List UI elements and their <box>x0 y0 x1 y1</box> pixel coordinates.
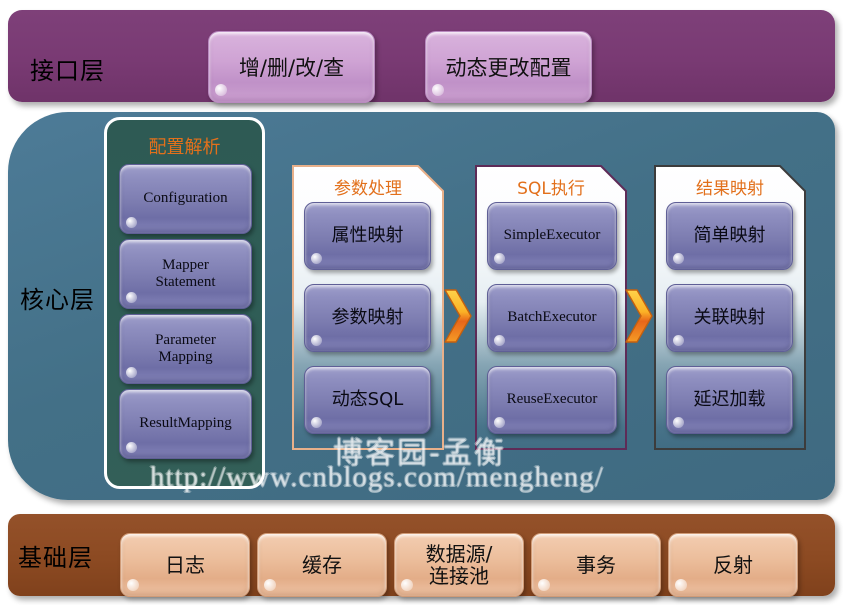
core-box-simple-executor[interactable]: SimpleExecutor <box>487 202 617 270</box>
core-box-batch-executor-label: BatchExecutor <box>503 309 600 326</box>
core-box-reuse-executor[interactable]: ReuseExecutor <box>487 366 617 434</box>
base-box-reflection-label: 反射 <box>713 554 753 576</box>
base-box-transaction-label: 事务 <box>576 554 616 576</box>
core-box-parameter-mapping-2-label: 参数映射 <box>328 308 408 329</box>
interface-box-dynamic-config-label: 动态更改配置 <box>446 52 572 82</box>
core-box-property-mapping-label: 属性映射 <box>328 226 408 247</box>
interface-box-crud[interactable]: 增/删/改/查 <box>208 31 375 103</box>
core-box-parameter-mapping-label: Parameter Mapping <box>151 332 220 367</box>
core-box-association-mapping-label: 关联映射 <box>690 308 770 329</box>
base-box-logging-label: 日志 <box>165 554 205 576</box>
group-panel-param-process[interactable]: 参数处理 属性映射 参数映射 动态SQL <box>292 165 444 450</box>
core-box-mapper-statement[interactable]: Mapper Statement <box>119 239 252 309</box>
core-layer-title: 核心层 <box>20 280 95 315</box>
interface-box-crud-label: 增/删/改/查 <box>239 52 344 82</box>
core-box-simple-mapping[interactable]: 简单映射 <box>666 202 793 270</box>
core-box-result-mapping-label: ResultMapping <box>135 415 236 432</box>
base-box-cache[interactable]: 缓存 <box>257 533 387 597</box>
arrow-right-icon-sql-to-result <box>624 288 654 344</box>
base-box-datasource-pool[interactable]: 数据源/ 连接池 <box>394 533 524 597</box>
core-box-parameter-mapping-2[interactable]: 参数映射 <box>304 284 431 352</box>
core-box-association-mapping[interactable]: 关联映射 <box>666 284 793 352</box>
core-box-dynamic-sql-label: 动态SQL <box>328 390 408 411</box>
core-box-reuse-executor-label: ReuseExecutor <box>503 391 602 408</box>
core-box-configuration-label: Configuration <box>139 190 231 207</box>
base-box-transaction[interactable]: 事务 <box>531 533 661 597</box>
base-box-cache-label: 缓存 <box>302 554 342 576</box>
core-box-mapper-statement-label: Mapper Statement <box>152 257 220 292</box>
core-box-simple-mapping-label: 简单映射 <box>690 226 770 247</box>
base-box-datasource-pool-label: 数据源/ 连接池 <box>426 543 493 588</box>
architecture-diagram: 接口层 增/删/改/查 动态更改配置 核心层 配置解析 Configuratio… <box>0 0 843 605</box>
interface-box-dynamic-config[interactable]: 动态更改配置 <box>425 31 592 103</box>
core-box-parameter-mapping[interactable]: Parameter Mapping <box>119 314 252 384</box>
core-box-dynamic-sql[interactable]: 动态SQL <box>304 366 431 434</box>
group-title-result-mapping: 结果映射 <box>654 174 806 199</box>
interface-layer-title: 接口层 <box>30 51 105 86</box>
core-box-batch-executor[interactable]: BatchExecutor <box>487 284 617 352</box>
core-box-lazy-loading[interactable]: 延迟加载 <box>666 366 793 434</box>
group-title-param-process: 参数处理 <box>292 174 444 199</box>
core-box-property-mapping[interactable]: 属性映射 <box>304 202 431 270</box>
base-box-logging[interactable]: 日志 <box>120 533 250 597</box>
group-panel-result-mapping[interactable]: 结果映射 简单映射 关联映射 延迟加载 <box>654 165 806 450</box>
group-title-sql-execute: SQL执行 <box>475 174 627 199</box>
group-title-config-parse: 配置解析 <box>107 133 262 159</box>
group-panel-sql-execute[interactable]: SQL执行 SimpleExecutor BatchExecutor Reuse… <box>475 165 627 450</box>
arrow-right-icon-param-to-sql <box>443 288 473 344</box>
group-panel-config-parse[interactable]: 配置解析 Configuration Mapper Statement Para… <box>104 117 265 489</box>
core-box-result-mapping[interactable]: ResultMapping <box>119 389 252 459</box>
base-layer-band: 基础层 日志 缓存 数据源/ 连接池 事务 反射 <box>8 514 835 596</box>
core-box-lazy-loading-label: 延迟加载 <box>690 390 770 411</box>
core-box-configuration[interactable]: Configuration <box>119 164 252 234</box>
base-box-reflection[interactable]: 反射 <box>668 533 798 597</box>
base-layer-title: 基础层 <box>18 538 93 573</box>
interface-layer-band: 接口层 增/删/改/查 动态更改配置 <box>8 10 835 102</box>
core-box-simple-executor-label: SimpleExecutor <box>500 227 605 244</box>
